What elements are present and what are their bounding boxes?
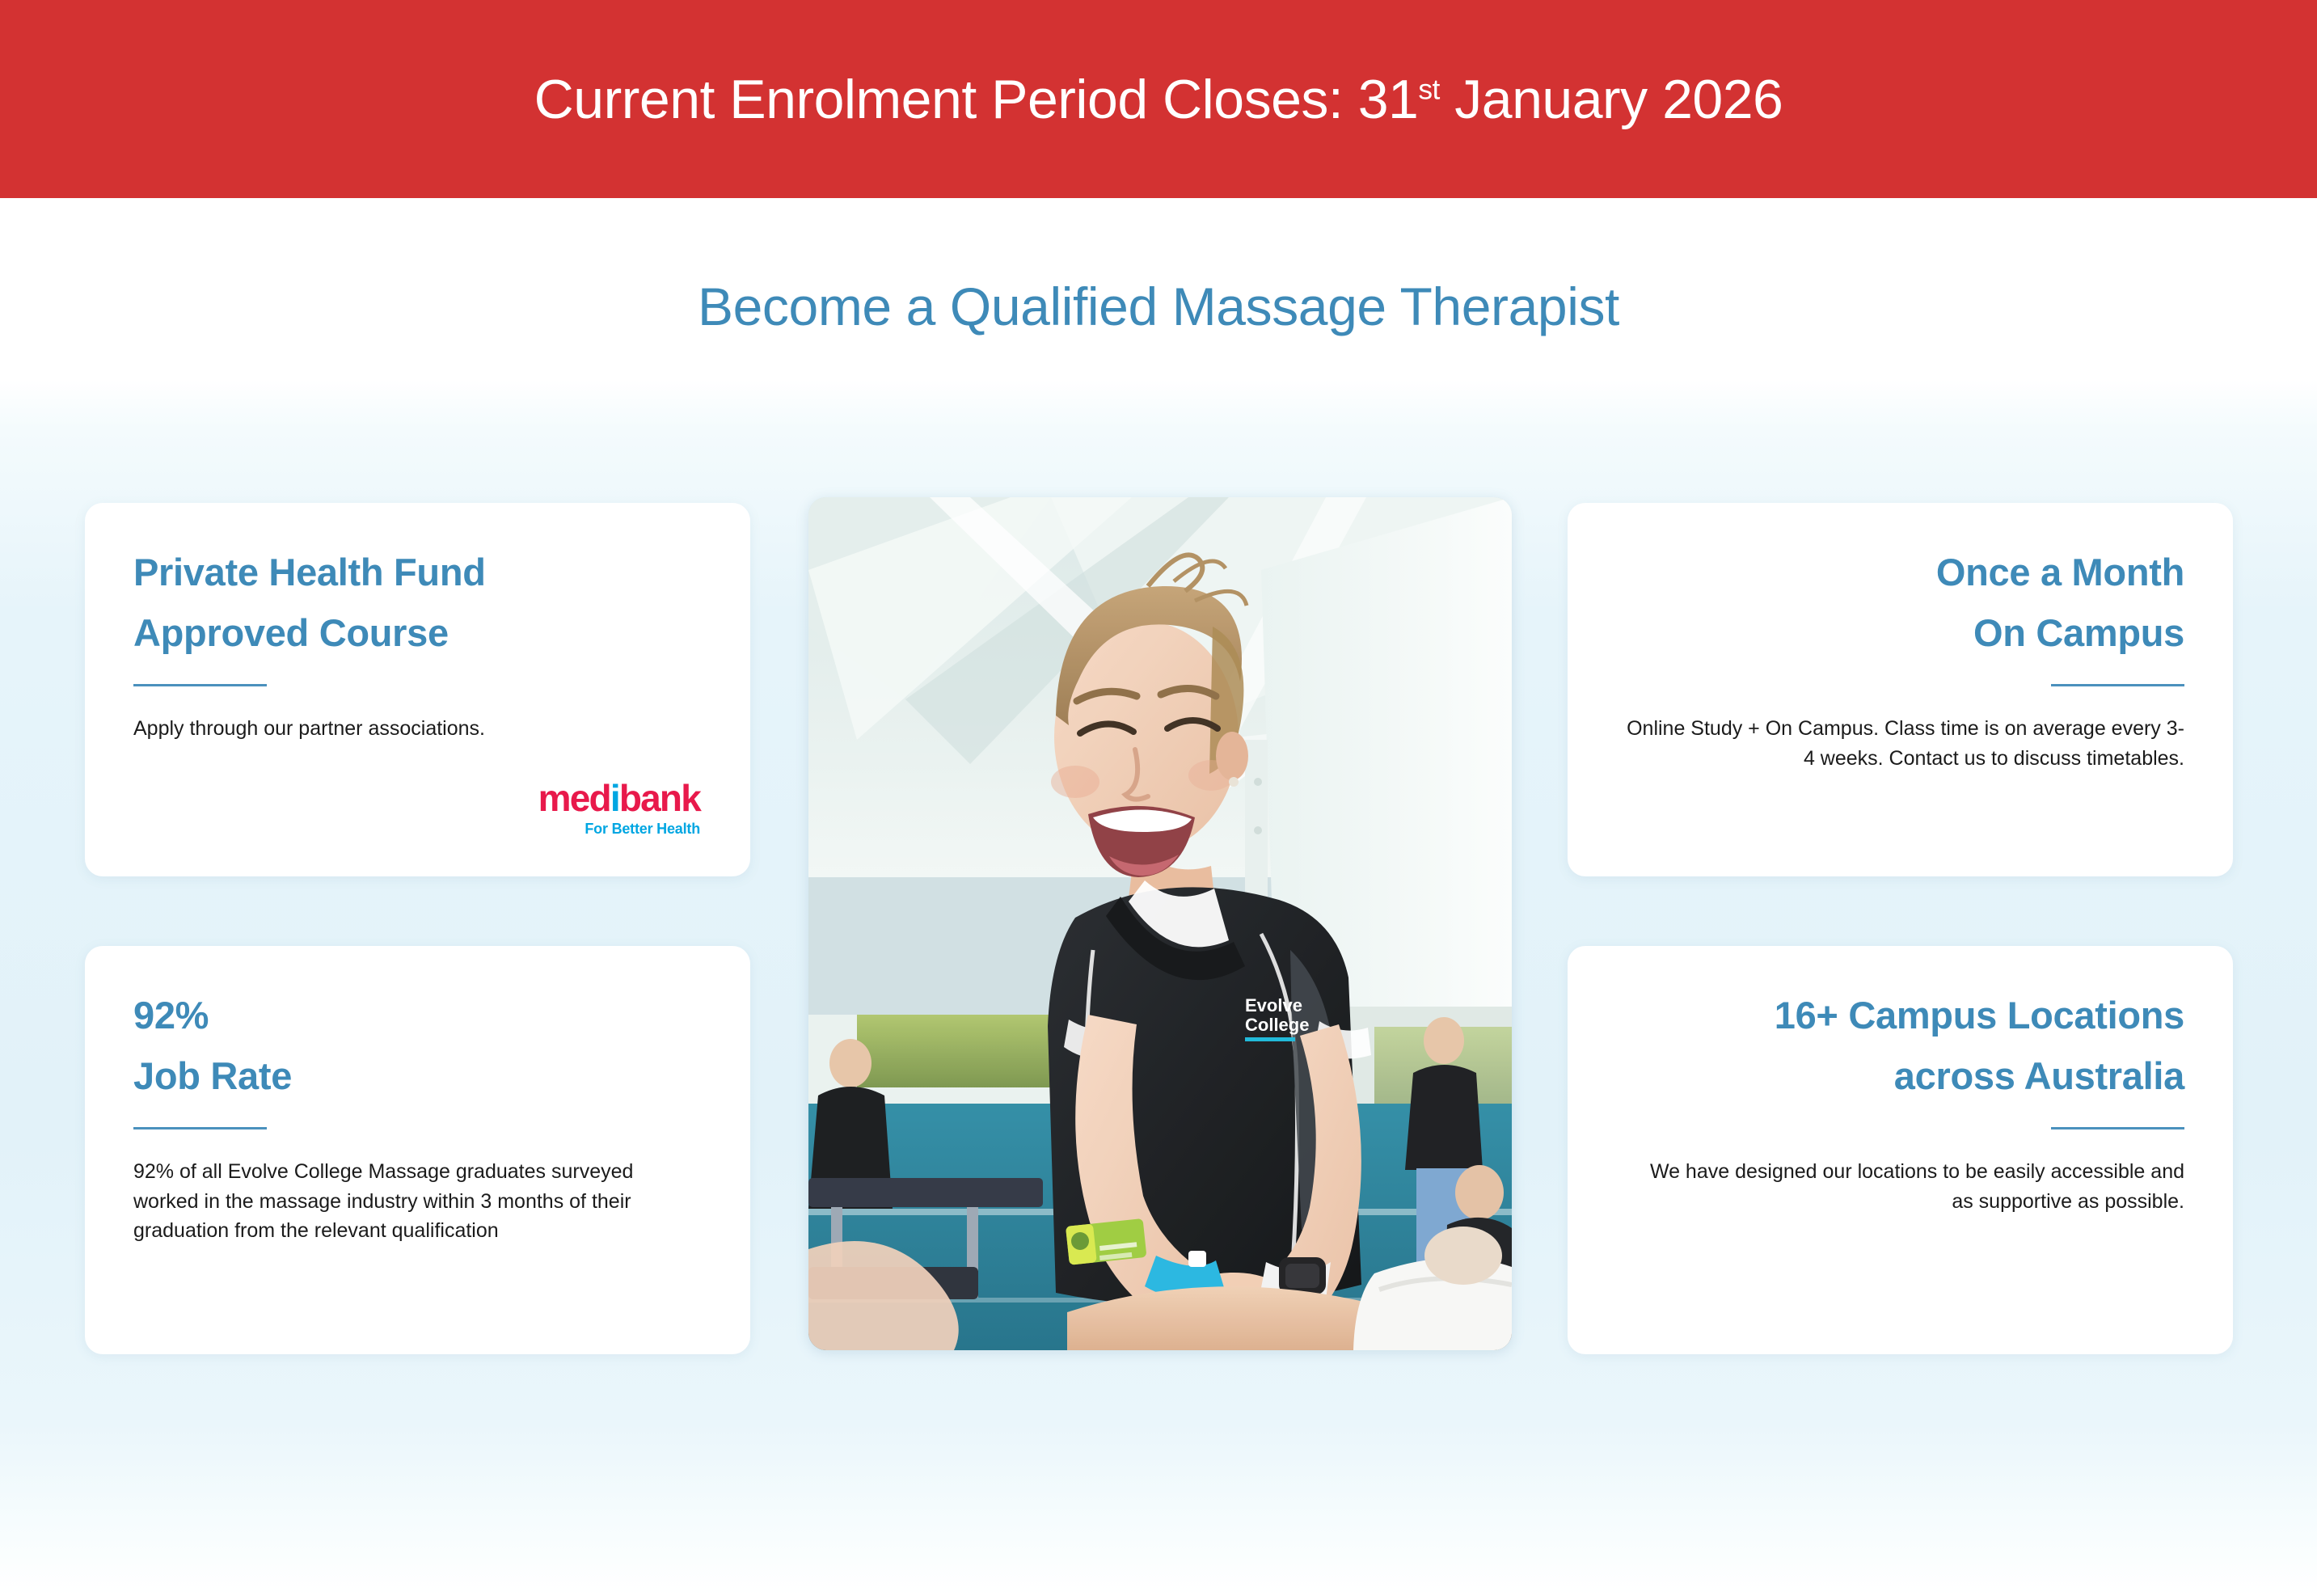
medibank-word-part2: i <box>610 777 619 819</box>
card-campus-locations[interactable]: 16+ Campus Locations across Australia We… <box>1568 946 2233 1354</box>
announcement-prefix: Current Enrolment Period Closes: 31 <box>534 69 1419 130</box>
medibank-word-part1: med <box>538 777 610 819</box>
card-divider <box>133 1127 267 1129</box>
feature-card-grid: Private Health Fund Approved Course Appl… <box>85 497 2233 1366</box>
medibank-tagline: For Better Health <box>538 821 700 836</box>
card-private-health-fund[interactable]: Private Health Fund Approved Course Appl… <box>85 503 750 876</box>
card-title: Once a Month On Campus <box>1936 548 2184 657</box>
card-job-rate[interactable]: 92% Job Rate 92% of all Evolve College M… <box>85 946 750 1354</box>
card-title: Private Health Fund Approved Course <box>133 548 702 657</box>
card-divider <box>2051 1127 2184 1129</box>
card-title-line2: Approved Course <box>133 609 702 657</box>
card-body: 92% of all Evolve College Massage gradua… <box>133 1157 699 1246</box>
card-once-a-month-on-campus[interactable]: Once a Month On Campus Online Study + On… <box>1568 503 2233 876</box>
medibank-word-part3: bank <box>619 777 700 819</box>
announcement-text: Current Enrolment Period Closes: 31st Ja… <box>534 72 1783 127</box>
announcement-suffix: January 2026 <box>1440 69 1783 130</box>
card-title: 16+ Campus Locations across Australia <box>1775 991 2184 1100</box>
card-title: 92% Job Rate <box>133 991 702 1100</box>
card-title-line1: Once a Month <box>1936 548 2184 596</box>
page-title: Become a Qualified Massage Therapist <box>0 275 2317 339</box>
massage-student-photo: Evolve College <box>808 497 1512 1350</box>
card-body: Online Study + On Campus. Class time is … <box>1627 714 2184 773</box>
card-title-line2: Job Rate <box>133 1052 702 1100</box>
card-title-line1: 92% <box>133 991 702 1039</box>
card-divider <box>2051 684 2184 686</box>
card-title-line1: 16+ Campus Locations <box>1775 991 2184 1039</box>
card-title-line1: Private Health Fund <box>133 548 702 596</box>
card-body: We have designed our locations to be eas… <box>1627 1157 2184 1216</box>
page-background: Current Enrolment Period Closes: 31st Ja… <box>0 0 2317 1596</box>
medibank-logo: medibank For Better Health <box>538 779 702 836</box>
card-body: Apply through our partner associations. <box>133 714 699 744</box>
card-title-line2: across Australia <box>1775 1052 2184 1100</box>
card-title-line2: On Campus <box>1936 609 2184 657</box>
announcement-bar: Current Enrolment Period Closes: 31st Ja… <box>0 0 2317 198</box>
card-divider <box>133 684 267 686</box>
medibank-wordmark: medibank <box>538 779 700 817</box>
announcement-ordinal: st <box>1418 74 1440 105</box>
